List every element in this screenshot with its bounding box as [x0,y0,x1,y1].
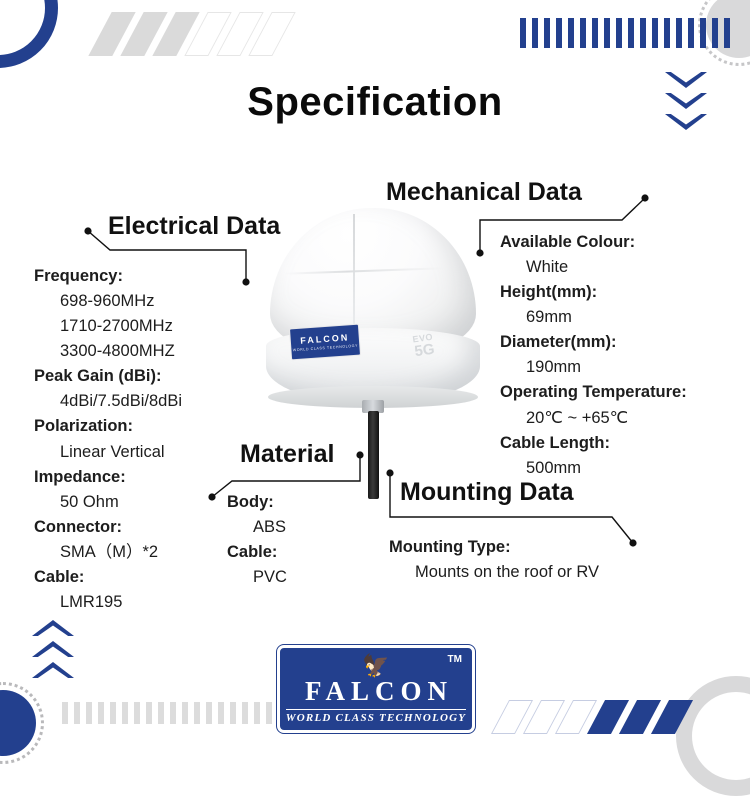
mounting-data-heading: Mounting Data [400,478,574,507]
spec-value: 698-960MHz [34,289,182,314]
spec-key: Mounting Type: [389,535,599,560]
spec-value: 1710-2700MHz [34,314,182,339]
spec-key: Connector: [34,515,182,540]
trademark-mark: TM [448,654,462,665]
spec-value: ABS [227,515,287,540]
spec-value: White [500,255,687,280]
spec-value: 50 Ohm [34,490,182,515]
footer-logo-name: FALCON [299,678,453,705]
electrical-data-list: Frequency: 698-960MHz 1710-2700MHz 3300-… [34,264,182,615]
spec-key: Frequency: [34,264,182,289]
footer-logo: TM 🦅 FALCON WORLD CLASS TECHNOLOGY [277,645,475,733]
spec-key: Peak Gain (dBi): [34,364,182,389]
spec-key: Diameter(mm): [500,330,687,355]
spec-value: LMR195 [34,590,182,615]
mounting-data-list: Mounting Type: Mounts on the roof or RV [389,535,599,585]
spec-key: Available Colour: [500,230,687,255]
electrical-data-heading: Electrical Data [108,212,280,241]
mechanical-data-heading: Mechanical Data [386,178,582,207]
spec-key: Cable Length: [500,431,687,456]
spec-key: Cable: [34,565,182,590]
spec-value: 3300-4800MHZ [34,339,182,364]
spec-value: Mounts on the roof or RV [389,560,599,585]
spec-value: 190mm [500,355,687,380]
mechanical-data-list: Available Colour: White Height(mm): 69mm… [500,230,687,481]
spec-value: Linear Vertical [34,440,182,465]
spec-value: 4dBi/7.5dBi/8dBi [34,389,182,414]
falcon-bird-icon: 🦅 [362,655,389,677]
spec-key: Height(mm): [500,280,687,305]
footer-logo-tagline: WORLD CLASS TECHNOLOGY [286,709,466,724]
spec-value: PVC [227,565,287,590]
spec-value: 69mm [500,305,687,330]
material-heading: Material [240,440,334,469]
spec-value: SMA（M）*2 [34,540,182,565]
spec-key: Impedance: [34,465,182,490]
spec-key: Body: [227,490,287,515]
spec-key: Operating Temperature: [500,380,687,405]
material-list: Body: ABS Cable: PVC [227,490,287,590]
spec-value: 20℃ ~ +65℃ [500,406,687,431]
spec-key: Cable: [227,540,287,565]
spec-key: Polarization: [34,414,182,439]
